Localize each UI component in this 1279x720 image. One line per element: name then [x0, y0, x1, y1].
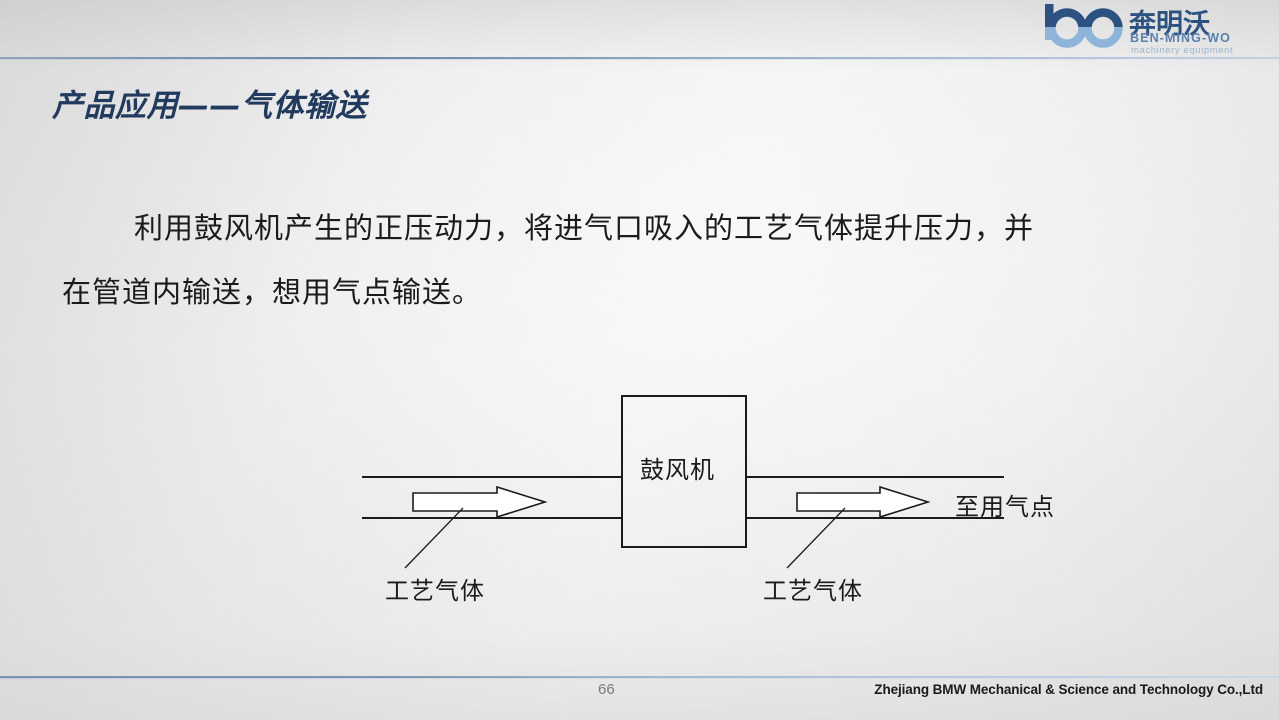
header-divider-shadow [0, 59, 1279, 60]
inlet-gas-label: 工艺气体 [385, 571, 485, 606]
destination-label: 至用气点 [955, 487, 1055, 522]
slide: 奔明沃 BEN-MING-WO machinery equipment 产品应用… [0, 0, 1279, 720]
page-title: 产品应用——气体输送 [52, 80, 367, 125]
company-logo: 奔明沃 BEN-MING-WO machinery equipment [1041, 2, 1271, 56]
page-number: 66 [598, 681, 615, 698]
blower-label: 鼓风机 [640, 450, 715, 485]
body-paragraph: 利用鼓风机产生的正压动力，将进气口吸入的工艺气体提升压力，并在管道内输送，想用气… [62, 196, 1042, 324]
outlet-gas-label: 工艺气体 [763, 571, 863, 606]
logo-tagline: machinery equipment [1131, 45, 1233, 56]
footer-company-name: Zhejiang BMW Mechanical & Science and Te… [874, 682, 1263, 697]
logo-brand-en: BEN-MING-WO [1130, 31, 1231, 45]
footer-divider-shadow [0, 678, 1279, 679]
